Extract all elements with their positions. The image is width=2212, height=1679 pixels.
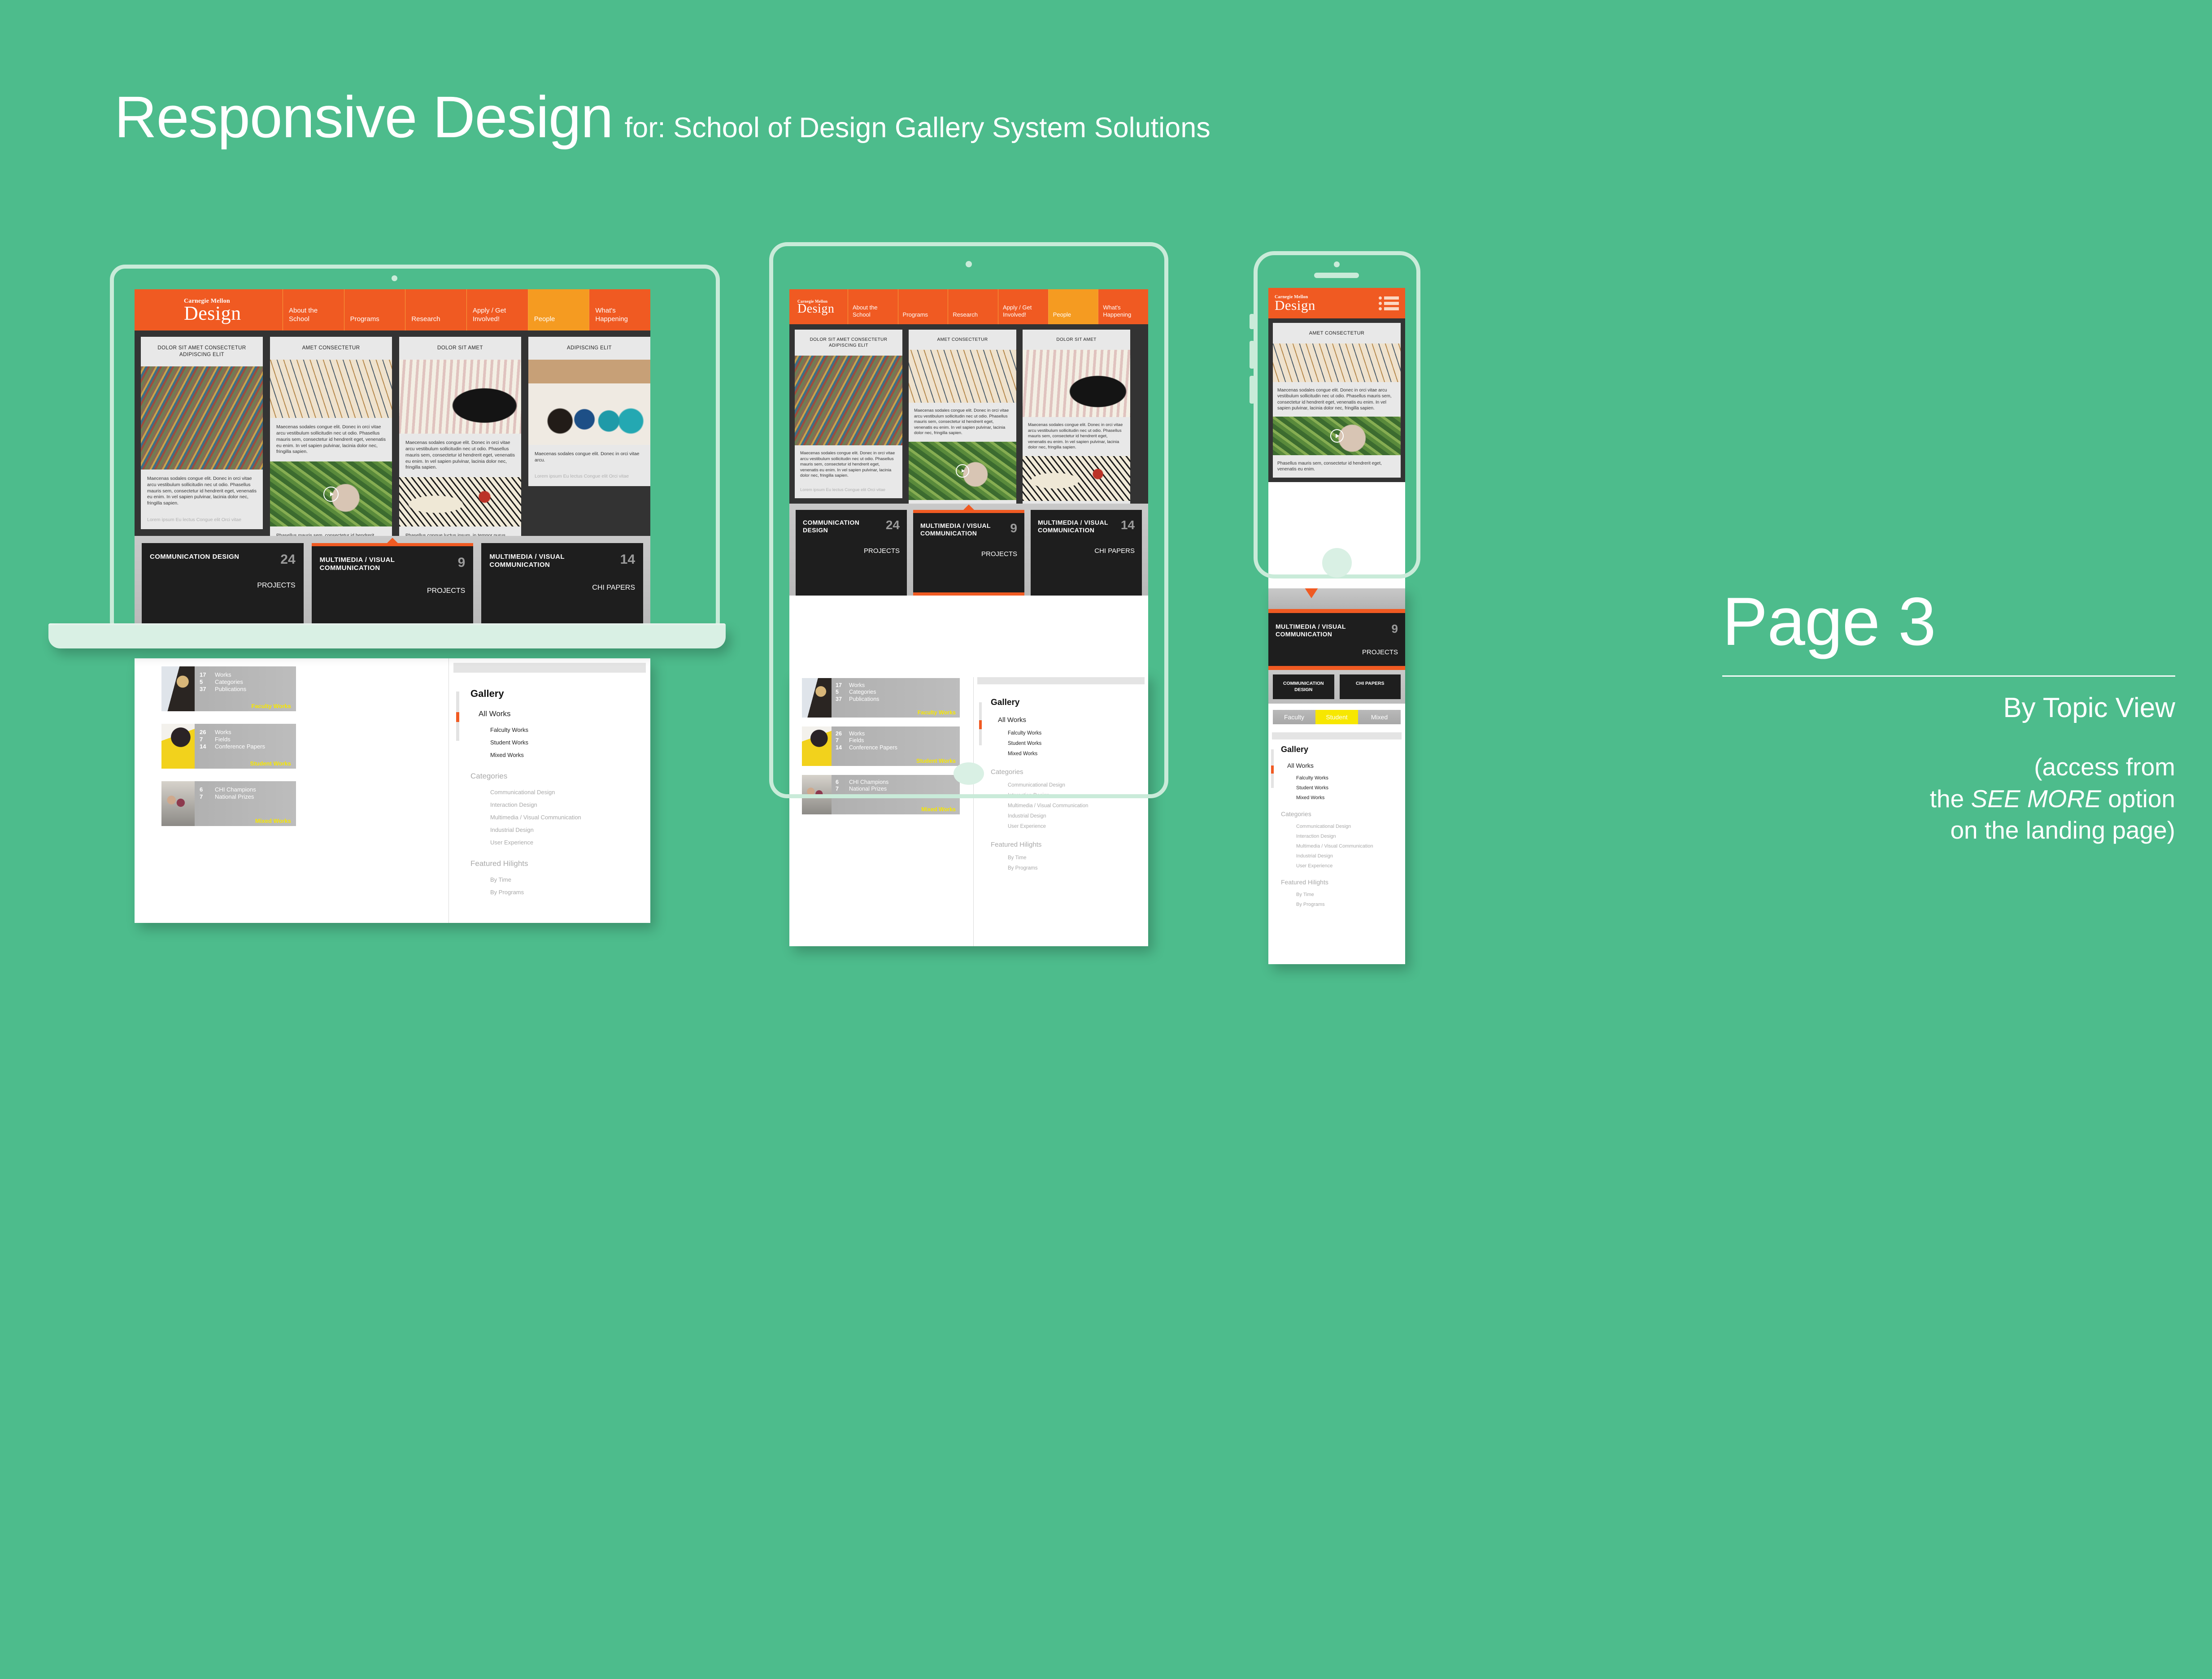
- stat-chip[interactable]: COMMUNICATION DESIGN: [1273, 674, 1334, 699]
- article-image: [270, 360, 392, 418]
- gallery-category-item[interactable]: User Experience: [490, 839, 650, 846]
- gallery-category-item[interactable]: User Experience: [1008, 824, 1148, 829]
- list-menu-icon[interactable]: [1379, 296, 1399, 310]
- article-body: Maecenas sodales congue elit. Donec in o…: [270, 418, 392, 455]
- article-image: [528, 360, 650, 445]
- stat-unit: PROJECTS: [803, 547, 900, 555]
- gallery-categories-heading: Categories: [470, 772, 650, 781]
- stats-strip: COMMUNICATION DESIGN24PROJECTSMULTIMEDIA…: [789, 504, 1148, 596]
- works-info: 17Works5Categories37PublicationsFaculty …: [832, 678, 960, 718]
- gallery-scrollbar-thumb[interactable]: [979, 720, 982, 729]
- gallery-category-item[interactable]: Interaction Design: [1008, 793, 1148, 798]
- works-label: Works: [215, 729, 231, 736]
- works-cards-column: 17Works5Categories37PublicationsFaculty …: [789, 673, 973, 946]
- gallery-featured-item[interactable]: By Programs: [1008, 866, 1148, 871]
- access-note-line-3: on the landing page): [1722, 814, 2175, 846]
- stat-number: 14: [1121, 519, 1135, 531]
- works-label: CHI Champions: [215, 786, 256, 793]
- gallery-content: GalleryAll WorksFalculty WorksStudent Wo…: [1268, 739, 1405, 907]
- article-title: AMET CONSECTETUR: [1273, 323, 1401, 344]
- stat-unit: PROJECTS: [320, 587, 466, 595]
- stat-tile[interactable]: MULTIMEDIA / VISUAL COMMUNICATION9PROJEC…: [1268, 613, 1405, 666]
- works-tag: Student Works: [200, 760, 291, 767]
- works-label: Works: [215, 671, 231, 679]
- highlight-pointer-icon: [963, 505, 974, 510]
- gallery-content: GalleryAll WorksFalculty WorksStudent Wo…: [449, 673, 650, 896]
- stat-chips-row: COMMUNICATION DESIGNCHI PAPERS: [1268, 670, 1405, 704]
- gallery-scrollbar-thumb[interactable]: [1271, 766, 1274, 773]
- nav-item-label: Apply / Get Involved!: [1003, 304, 1044, 318]
- article-image: [1273, 344, 1401, 382]
- site-navbar: Carnegie MellonDesignAbout the SchoolPro…: [135, 289, 650, 331]
- article-body: Maecenas sodales congue elit. Donec in o…: [141, 470, 263, 507]
- article-image: [270, 461, 392, 526]
- works-tag: Mixed Works: [200, 818, 291, 824]
- stat-unit: PROJECTS: [920, 550, 1017, 558]
- nav-item-people[interactable]: People: [1048, 289, 1098, 324]
- works-label: Works: [849, 731, 865, 737]
- site-logo[interactable]: Carnegie MellonDesign: [1275, 295, 1315, 311]
- highlight-bar-bottom: [1268, 666, 1405, 670]
- access-note-line-2: the SEE MORE option: [1722, 783, 2175, 814]
- laptop-base: [48, 625, 726, 648]
- stat-tile[interactable]: COMMUNICATION DESIGN24PROJECTS: [796, 510, 907, 596]
- stat-tile-wrap: MULTIMEDIA / VISUAL COMMUNICATION14CHI P…: [1031, 510, 1142, 596]
- caption-divider: [1722, 675, 2175, 677]
- stat-tile[interactable]: COMMUNICATION DESIGN24PROJECTS: [142, 543, 304, 630]
- works-count: 14: [200, 743, 215, 750]
- gallery-all-works[interactable]: All Works: [998, 716, 1148, 724]
- works-label: Works: [849, 682, 865, 689]
- works-thumbnail: [802, 726, 832, 766]
- gallery-works-item[interactable]: Falculty Works: [1008, 731, 1148, 736]
- stat-name: MULTIMEDIA / VISUAL COMMUNICATION: [1038, 519, 1115, 534]
- nav-item-label: What's Happening: [1103, 304, 1144, 318]
- gallery-category-item[interactable]: Communicational Design: [1008, 783, 1148, 788]
- laptop-screen: Carnegie MellonDesignAbout the SchoolPro…: [135, 289, 650, 630]
- highlight-bar-top: [312, 543, 474, 546]
- works-card[interactable]: 6CHI Champions7National PrizesMixed Work…: [161, 781, 296, 826]
- works-count: 6: [836, 779, 849, 786]
- stat-tile-wrap: COMMUNICATION DESIGN24PROJECTS: [142, 543, 304, 630]
- article-tags: Lorem ipsum Eu lectus Congue elit Orci v…: [795, 479, 902, 499]
- article-title: ADIPISCING ELIT: [528, 337, 650, 360]
- nav-item-research[interactable]: Research: [948, 289, 998, 324]
- article-card[interactable]: AMET CONSECTETURMaecenas sodales congue …: [270, 337, 392, 545]
- nav-item-programs[interactable]: Programs: [344, 289, 405, 331]
- gallery-heading: Gallery: [991, 698, 1148, 708]
- gallery-category-item[interactable]: Multimedia / Visual Communication: [1008, 803, 1148, 809]
- stat-name: COMMUNICATION DESIGN: [803, 519, 880, 534]
- nav-item-apply-get-involved[interactable]: Apply / Get Involved!: [998, 289, 1048, 324]
- works-card[interactable]: 6CHI Champions7National PrizesMixed Work…: [802, 775, 960, 814]
- article-card[interactable]: AMET CONSECTETURMaecenas sodales congue …: [1273, 323, 1401, 478]
- gallery-featured-item[interactable]: By Time: [490, 876, 650, 883]
- article-body: Maecenas sodales congue elit. Donec in o…: [909, 403, 1016, 436]
- nav-item-label: Programs: [903, 311, 928, 318]
- works-label: National Prizes: [849, 786, 887, 792]
- article-image: [1023, 456, 1130, 501]
- works-info: 26Works7Fields14Conference PapersStudent…: [195, 724, 296, 769]
- gallery-works-item[interactable]: Falculty Works: [1296, 775, 1405, 781]
- article-image: [399, 360, 521, 434]
- view-label: By Topic View: [1722, 693, 2175, 723]
- gallery-topbar: [1272, 732, 1402, 739]
- works-count: 26: [200, 729, 215, 736]
- article-image: [1273, 417, 1401, 455]
- works-label: CHI Champions: [849, 779, 888, 786]
- stat-tile[interactable]: MULTIMEDIA / VISUAL COMMUNICATION14CHI P…: [1031, 510, 1142, 596]
- works-info: 26Works7Fields14Conference PapersStudent…: [832, 726, 960, 766]
- stat-number: 14: [620, 553, 635, 566]
- article-card[interactable]: ADIPISCING ELITMaecenas sodales congue e…: [528, 337, 650, 486]
- nav-item-what-s-happening[interactable]: What's Happening: [589, 289, 650, 331]
- gallery-works-item[interactable]: Mixed Works: [490, 752, 650, 758]
- gallery-featured-heading: Featured Hilights: [1281, 879, 1405, 886]
- access-note-pre: the: [1930, 785, 1971, 813]
- stat-name: MULTIMEDIA / VISUAL COMMUNICATION: [320, 556, 450, 572]
- page-subtitle: for: School of Design Gallery System Sol…: [625, 112, 1211, 144]
- gallery-featured-item[interactable]: By Programs: [490, 889, 650, 896]
- gallery-category-item[interactable]: Interaction Design: [1296, 834, 1405, 839]
- works-thumbnail: [161, 781, 195, 826]
- segmented-control: FacultyStudentMixed: [1273, 710, 1401, 724]
- gallery-category-item[interactable]: Multimedia / Visual Communication: [490, 814, 650, 821]
- nav-item-label: Programs: [350, 315, 379, 323]
- phone-camera-icon: [1334, 261, 1340, 267]
- works-card[interactable]: 26Works7Fields14Conference PapersStudent…: [802, 726, 960, 766]
- play-button[interactable]: [956, 464, 969, 478]
- works-thumbnail: [802, 775, 832, 814]
- segment-mixed[interactable]: Mixed: [1358, 710, 1401, 724]
- stat-tile[interactable]: MULTIMEDIA / VISUAL COMMUNICATION9PROJEC…: [913, 513, 1024, 592]
- article-body: Maecenas sodales congue elit. Donec in o…: [528, 445, 650, 464]
- articles-strip: DOLOR SIT AMET CONSECTETUR ADIPISCING EL…: [789, 324, 1148, 504]
- works-count: 14: [836, 744, 849, 751]
- gallery-works-item[interactable]: Student Works: [1008, 741, 1148, 746]
- article-card[interactable]: DOLOR SIT AMET CONSECTETUR ADIPISCING EL…: [141, 337, 263, 529]
- article-image: [795, 356, 902, 445]
- page-header: Responsive Designfor: School of Design G…: [114, 83, 1211, 151]
- gallery-topbar: [977, 676, 1145, 684]
- works-card[interactable]: 17Works5Categories37PublicationsFaculty …: [161, 666, 296, 711]
- gallery-scrollbar[interactable]: [456, 692, 459, 741]
- article-body: Maecenas sodales congue elit. Donec in o…: [1023, 417, 1130, 451]
- highlight-pointer-icon: [1304, 587, 1319, 598]
- article-body: Maecenas sodales congue elit. Donec in o…: [795, 445, 902, 479]
- stat-unit: CHI PAPERS: [1038, 547, 1135, 555]
- gallery-content: GalleryAll WorksFalculty WorksStudent Wo…: [974, 684, 1148, 871]
- article-tags: Lorem ipsum Eu lectus Congue elit Orci v…: [141, 507, 263, 529]
- gallery-scrollbar-thumb[interactable]: [456, 712, 459, 722]
- nav-item-label: Research: [953, 311, 978, 318]
- stat-tile-wrap: MULTIMEDIA / VISUAL COMMUNICATION9PROJEC…: [312, 543, 474, 630]
- nav-item-label: Research: [411, 315, 440, 323]
- phone-lower-panel: MULTIMEDIA / VISUAL COMMUNICATION9PROJEC…: [1268, 587, 1405, 964]
- play-button[interactable]: [1330, 429, 1344, 443]
- article-image: [141, 366, 263, 470]
- gallery-heading: Gallery: [470, 688, 650, 700]
- works-label: Publications: [215, 686, 246, 693]
- site-logo[interactable]: Carnegie MellonDesign: [789, 289, 848, 324]
- article-title: DOLOR SIT AMET: [1023, 330, 1130, 350]
- works-label: National Prizes: [215, 793, 254, 800]
- laptop-camera-icon: [392, 275, 397, 281]
- gallery-featured-item[interactable]: By Time: [1008, 855, 1148, 861]
- works-card[interactable]: 17Works5Categories37PublicationsFaculty …: [802, 678, 960, 718]
- phone-navbar: Carnegie MellonDesign: [1268, 288, 1405, 318]
- works-count: 7: [836, 737, 849, 744]
- laptop-lower-panel: 17Works5Categories37PublicationsFaculty …: [135, 658, 650, 923]
- stat-number: 9: [1010, 522, 1017, 535]
- access-note-post: option: [2101, 785, 2175, 813]
- works-count: 7: [836, 786, 849, 792]
- works-info: 6CHI Champions7National PrizesMixed Work…: [832, 775, 960, 814]
- gallery-categories-heading: Categories: [1281, 810, 1405, 818]
- article-title: AMET CONSECTETUR: [270, 337, 392, 360]
- articles-strip: AMET CONSECTETURMaecenas sodales congue …: [1268, 318, 1405, 482]
- gallery-works-item[interactable]: Mixed Works: [1008, 751, 1148, 757]
- site-logo[interactable]: Carnegie MellonDesign: [135, 289, 283, 331]
- phone-home-button[interactable]: [1322, 548, 1352, 578]
- works-label: Categories: [849, 689, 876, 696]
- nav-item-label: Apply / Get Involved!: [473, 307, 522, 323]
- segment-student[interactable]: Student: [1315, 710, 1358, 724]
- gallery-featured-heading: Featured Hilights: [991, 841, 1148, 848]
- gallery-topbar: [453, 663, 646, 673]
- gallery-works-item[interactable]: Student Works: [1296, 785, 1405, 791]
- logo-design: Design: [184, 305, 283, 322]
- segmented-control-wrap: FacultyStudentMixed: [1268, 704, 1405, 729]
- stat-name: COMMUNICATION DESIGN: [150, 553, 239, 561]
- nav-item-label: What's Happening: [595, 307, 644, 323]
- article-body: Maecenas sodales congue elit. Donec in o…: [1273, 382, 1401, 417]
- gallery-category-item[interactable]: Industrial Design: [490, 826, 650, 833]
- nav-item-what-s-happening[interactable]: What's Happening: [1098, 289, 1148, 324]
- nav-item-programs[interactable]: Programs: [898, 289, 948, 324]
- stat-name: MULTIMEDIA / VISUAL COMMUNICATION: [1276, 623, 1387, 638]
- phone-mute-switch[interactable]: [1250, 314, 1254, 329]
- works-label: Conference Papers: [215, 743, 265, 750]
- gallery-all-works[interactable]: All Works: [479, 709, 650, 718]
- works-card[interactable]: 26Works7Fields14Conference PapersStudent…: [161, 724, 296, 769]
- play-button[interactable]: [323, 487, 339, 502]
- logo-design: Design: [797, 304, 848, 314]
- nav-item-about-the-school[interactable]: About the School: [848, 289, 898, 324]
- segment-faculty[interactable]: Faculty: [1273, 710, 1315, 724]
- gallery-category-item[interactable]: Industrial Design: [1296, 853, 1405, 859]
- gallery-featured-item[interactable]: By Programs: [1296, 902, 1405, 907]
- article-image: [909, 350, 1016, 403]
- access-note-line-1: (access from: [1722, 751, 2175, 783]
- works-info: 6CHI Champions7National PrizesMixed Work…: [195, 781, 296, 826]
- works-count: 7: [200, 793, 215, 800]
- works-label: Fields: [215, 736, 231, 743]
- phone-speaker-icon: [1314, 273, 1359, 278]
- works-tag: Faculty Works: [836, 709, 956, 716]
- stat-unit: PROJECTS: [1276, 648, 1398, 656]
- works-label: Fields: [849, 737, 864, 744]
- works-tag: Faculty Works: [200, 703, 291, 709]
- article-title: DOLOR SIT AMET CONSECTETUR ADIPISCING EL…: [141, 337, 263, 366]
- works-count: 5: [836, 689, 849, 696]
- see-more-emphasis: SEE MORE: [1971, 785, 2101, 813]
- gallery-category-item[interactable]: Communicational Design: [490, 789, 650, 796]
- highlight-bar-top: [913, 510, 1024, 513]
- article-card[interactable]: DOLOR SIT AMET CONSECTETUR ADIPISCING EL…: [795, 330, 902, 498]
- stats-strip: COMMUNICATION DESIGN24PROJECTSMULTIMEDIA…: [135, 536, 650, 630]
- gallery-featured-heading: Featured Hilights: [470, 859, 650, 868]
- stat-name: MULTIMEDIA / VISUAL COMMUNICATION: [489, 553, 612, 569]
- nav-item-label: People: [534, 315, 555, 323]
- works-count: 17: [836, 682, 849, 689]
- gallery-scrollbar[interactable]: [979, 702, 982, 745]
- works-count: 6: [200, 786, 215, 793]
- works-label: Publications: [849, 696, 879, 703]
- nav-item-people[interactable]: People: [528, 289, 589, 331]
- stat-name: MULTIMEDIA / VISUAL COMMUNICATION: [920, 522, 1004, 537]
- article-image: [909, 442, 1016, 500]
- gallery-category-item[interactable]: Communicational Design: [1296, 824, 1405, 829]
- works-tag: Mixed Works: [836, 806, 956, 813]
- tablet-home-button[interactable]: [954, 762, 984, 785]
- phone-volume-up-button[interactable]: [1250, 341, 1254, 369]
- tablet-camera-icon: [966, 261, 972, 267]
- gallery-category-item[interactable]: Interaction Design: [490, 801, 650, 808]
- stat-unit: PROJECTS: [150, 582, 296, 590]
- gallery-works-item[interactable]: Mixed Works: [1296, 795, 1405, 800]
- article-title: AMET CONSECTETUR: [909, 330, 1016, 350]
- page-title: Responsive Design: [114, 83, 613, 151]
- stat-number: 9: [458, 556, 466, 570]
- highlight-bar-top: [1268, 609, 1405, 613]
- caption-block: Page 3 By Topic View (access from the SE…: [1722, 587, 2175, 846]
- stat-tile-wrap: COMMUNICATION DESIGN24PROJECTS: [796, 510, 907, 596]
- nav-item-label: About the School: [289, 307, 338, 323]
- works-thumbnail: [802, 678, 832, 718]
- nav-item-label: About the School: [853, 304, 893, 318]
- access-note: (access from the SEE MORE option on the …: [1722, 751, 2175, 846]
- stats-band: [1268, 587, 1405, 609]
- gallery-works-item[interactable]: Student Works: [490, 739, 650, 746]
- works-count: 37: [200, 686, 215, 693]
- gallery-categories-heading: Categories: [991, 768, 1148, 776]
- gallery-all-works[interactable]: All Works: [1287, 762, 1405, 769]
- works-label: Conference Papers: [849, 744, 897, 751]
- gallery-works-item[interactable]: Falculty Works: [490, 726, 650, 733]
- works-thumbnail: [161, 666, 195, 711]
- stat-tile-wrap: MULTIMEDIA / VISUAL COMMUNICATION14CHI P…: [481, 543, 643, 630]
- nav-item-about-the-school[interactable]: About the School: [283, 289, 344, 331]
- nav-item-label: People: [1053, 311, 1071, 318]
- gallery-nav-panel: GalleryAll WorksFalculty WorksStudent Wo…: [973, 673, 1148, 946]
- stat-number: 9: [1392, 623, 1398, 638]
- works-label: Categories: [215, 679, 243, 686]
- phone-screen: Carnegie MellonDesignAMET CONSECTETURMae…: [1268, 288, 1405, 588]
- article-title: DOLOR SIT AMET: [399, 337, 521, 360]
- article-image: [1023, 350, 1130, 417]
- site-navbar: Carnegie MellonDesignAbout the SchoolPro…: [789, 289, 1148, 324]
- gallery-category-item[interactable]: User Experience: [1296, 863, 1405, 869]
- works-count: 7: [200, 736, 215, 743]
- gallery-featured-item[interactable]: By Time: [1296, 892, 1405, 897]
- article-card[interactable]: AMET CONSECTETURMaecenas sodales congue …: [909, 330, 1016, 517]
- works-info: 17Works5Categories37PublicationsFaculty …: [195, 666, 296, 711]
- gallery-nav-panel: GalleryAll WorksFalculty WorksStudent Wo…: [448, 658, 650, 923]
- article-body: Phasellus mauris sem, consectetur id hen…: [1273, 455, 1401, 478]
- highlight-pointer-icon: [387, 538, 398, 543]
- works-count: 26: [836, 731, 849, 737]
- nav-item-research[interactable]: Research: [405, 289, 466, 331]
- tablet-screen: Carnegie MellonDesignAbout the SchoolPro…: [789, 289, 1148, 677]
- stat-chip[interactable]: CHI PAPERS: [1340, 674, 1401, 699]
- articles-strip: DOLOR SIT AMET CONSECTETUR ADIPISCING EL…: [135, 331, 650, 536]
- works-count: 37: [836, 696, 849, 703]
- gallery-category-item[interactable]: Multimedia / Visual Communication: [1296, 844, 1405, 849]
- article-title: DOLOR SIT AMET CONSECTETUR ADIPISCING EL…: [795, 330, 902, 356]
- gallery-category-item[interactable]: Industrial Design: [1008, 813, 1148, 819]
- gallery-nav-panel: GalleryAll WorksFalculty WorksStudent Wo…: [1268, 729, 1405, 964]
- works-count: 5: [200, 679, 215, 686]
- stat-number: 24: [280, 553, 295, 566]
- stat-tile[interactable]: MULTIMEDIA / VISUAL COMMUNICATION14CHI P…: [481, 543, 643, 630]
- tablet-lower-panel: 17Works5Categories37PublicationsFaculty …: [789, 673, 1148, 946]
- highlight-bar-bottom: [913, 592, 1024, 596]
- logo-design: Design: [1275, 300, 1315, 311]
- article-body: Maecenas sodales congue elit. Donec in o…: [399, 434, 521, 471]
- works-cards-column: 17Works5Categories37PublicationsFaculty …: [135, 658, 448, 923]
- phone-volume-down-button[interactable]: [1250, 376, 1254, 404]
- article-image: [399, 477, 521, 526]
- gallery-scrollbar[interactable]: [1271, 749, 1274, 788]
- works-count: 17: [200, 671, 215, 679]
- stat-number: 24: [886, 519, 900, 531]
- stat-unit: CHI PAPERS: [489, 584, 635, 592]
- stat-tile-wrap: MULTIMEDIA / VISUAL COMMUNICATION9PROJEC…: [913, 510, 1024, 596]
- gallery-heading: Gallery: [1281, 745, 1405, 754]
- article-tags: Lorem ipsum Eu lectus Congue elit Orci v…: [528, 464, 650, 486]
- page-number: Page 3: [1722, 587, 2175, 656]
- nav-item-apply-get-involved[interactable]: Apply / Get Involved!: [466, 289, 528, 331]
- works-thumbnail: [161, 724, 195, 769]
- stat-tile[interactable]: MULTIMEDIA / VISUAL COMMUNICATION9PROJEC…: [312, 546, 474, 627]
- works-tag: Student Works: [836, 758, 956, 764]
